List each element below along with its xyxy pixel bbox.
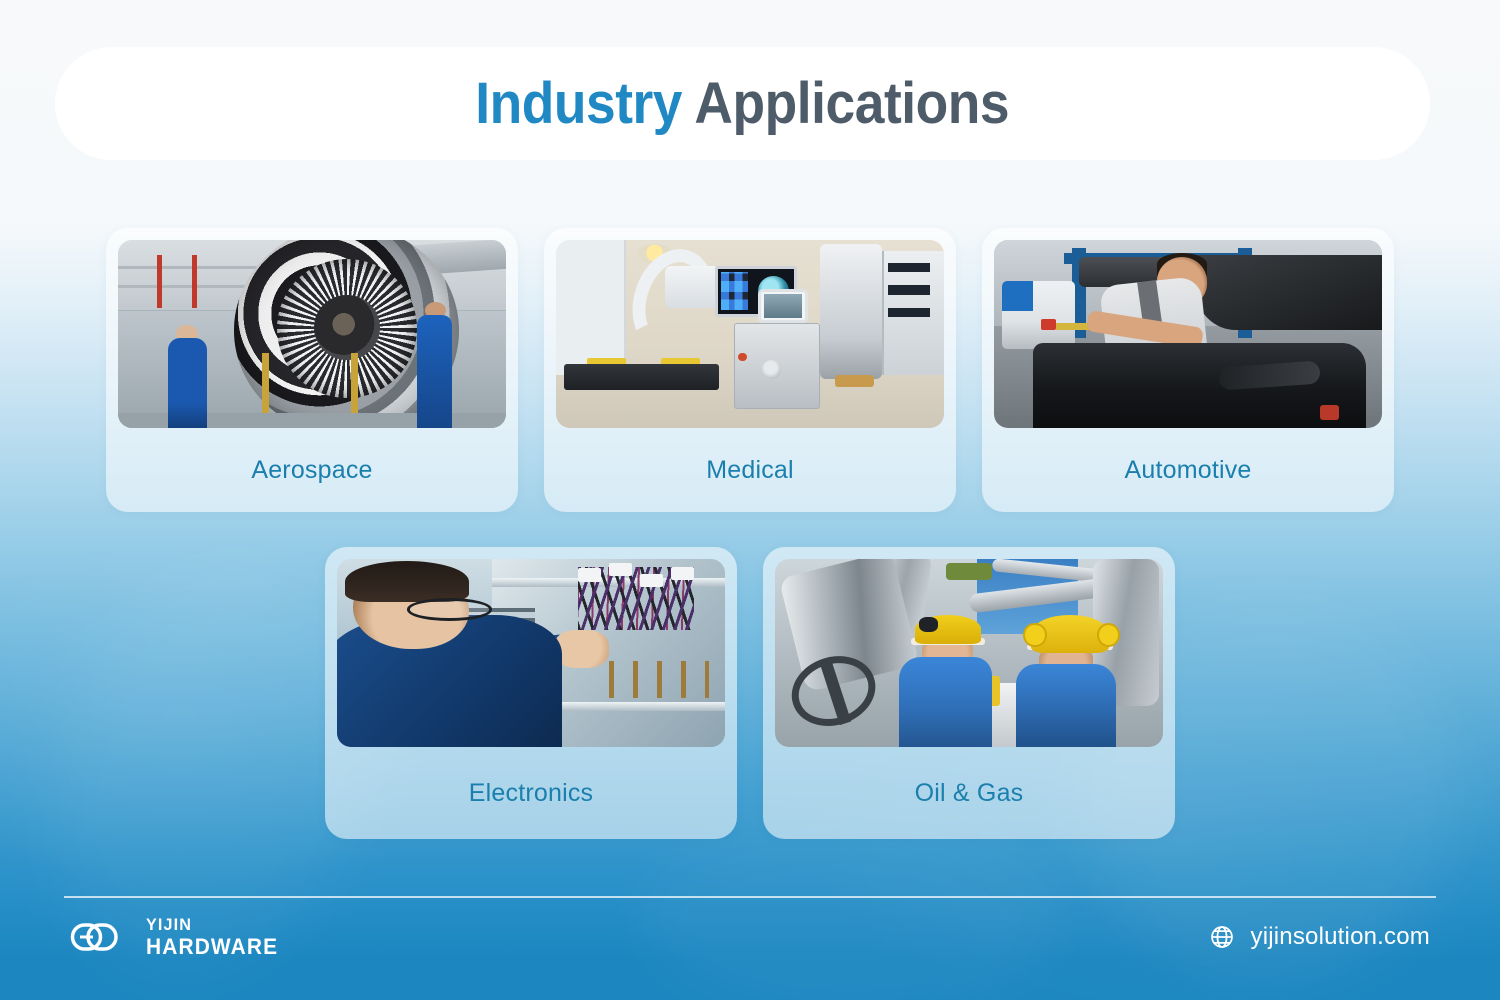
industry-card-label: Aerospace <box>251 428 372 512</box>
aerospace-photo <box>118 240 506 428</box>
infinity-logo-icon <box>70 917 132 957</box>
page-background: Industry Applications <box>0 0 1500 1000</box>
industry-card-label: Medical <box>706 428 794 512</box>
electronics-photo <box>337 559 725 747</box>
brand-text: YIJIN HARDWARE <box>146 916 278 958</box>
footer-divider <box>64 896 1436 898</box>
industry-card-label: Automotive <box>1124 428 1251 512</box>
industry-card-label: Oil & Gas <box>915 747 1024 839</box>
website-link[interactable]: yijinsolution.com <box>1209 923 1430 951</box>
brand-name-bottom: HARDWARE <box>146 936 278 958</box>
brand-name-top: YIJIN <box>146 916 278 933</box>
industry-card-electronics[interactable]: Electronics <box>325 547 737 839</box>
industry-card-automotive[interactable]: Automotive <box>982 228 1394 512</box>
website-url-text: yijinsolution.com <box>1251 923 1430 951</box>
industry-card-aerospace[interactable]: Aerospace <box>106 228 518 512</box>
background-blob <box>640 820 1060 1000</box>
medical-photo <box>556 240 944 428</box>
page-title: Industry Applications <box>476 70 1010 137</box>
globe-icon <box>1209 924 1235 950</box>
header-card: Industry Applications <box>55 47 1430 160</box>
industry-card-label: Electronics <box>469 747 593 839</box>
industry-cards-row-1: Aerospace <box>0 228 1500 512</box>
industry-card-medical[interactable]: Medical <box>544 228 956 512</box>
automotive-photo <box>994 240 1382 428</box>
oil-gas-photo <box>775 559 1163 747</box>
industry-cards-row-2: Electronics <box>0 547 1500 839</box>
page-title-accent: Industry <box>476 71 683 136</box>
brand-logo: YIJIN HARDWARE <box>70 916 285 958</box>
page-title-main: Applications <box>695 71 1010 136</box>
industry-card-oil-gas[interactable]: Oil & Gas <box>763 547 1175 839</box>
